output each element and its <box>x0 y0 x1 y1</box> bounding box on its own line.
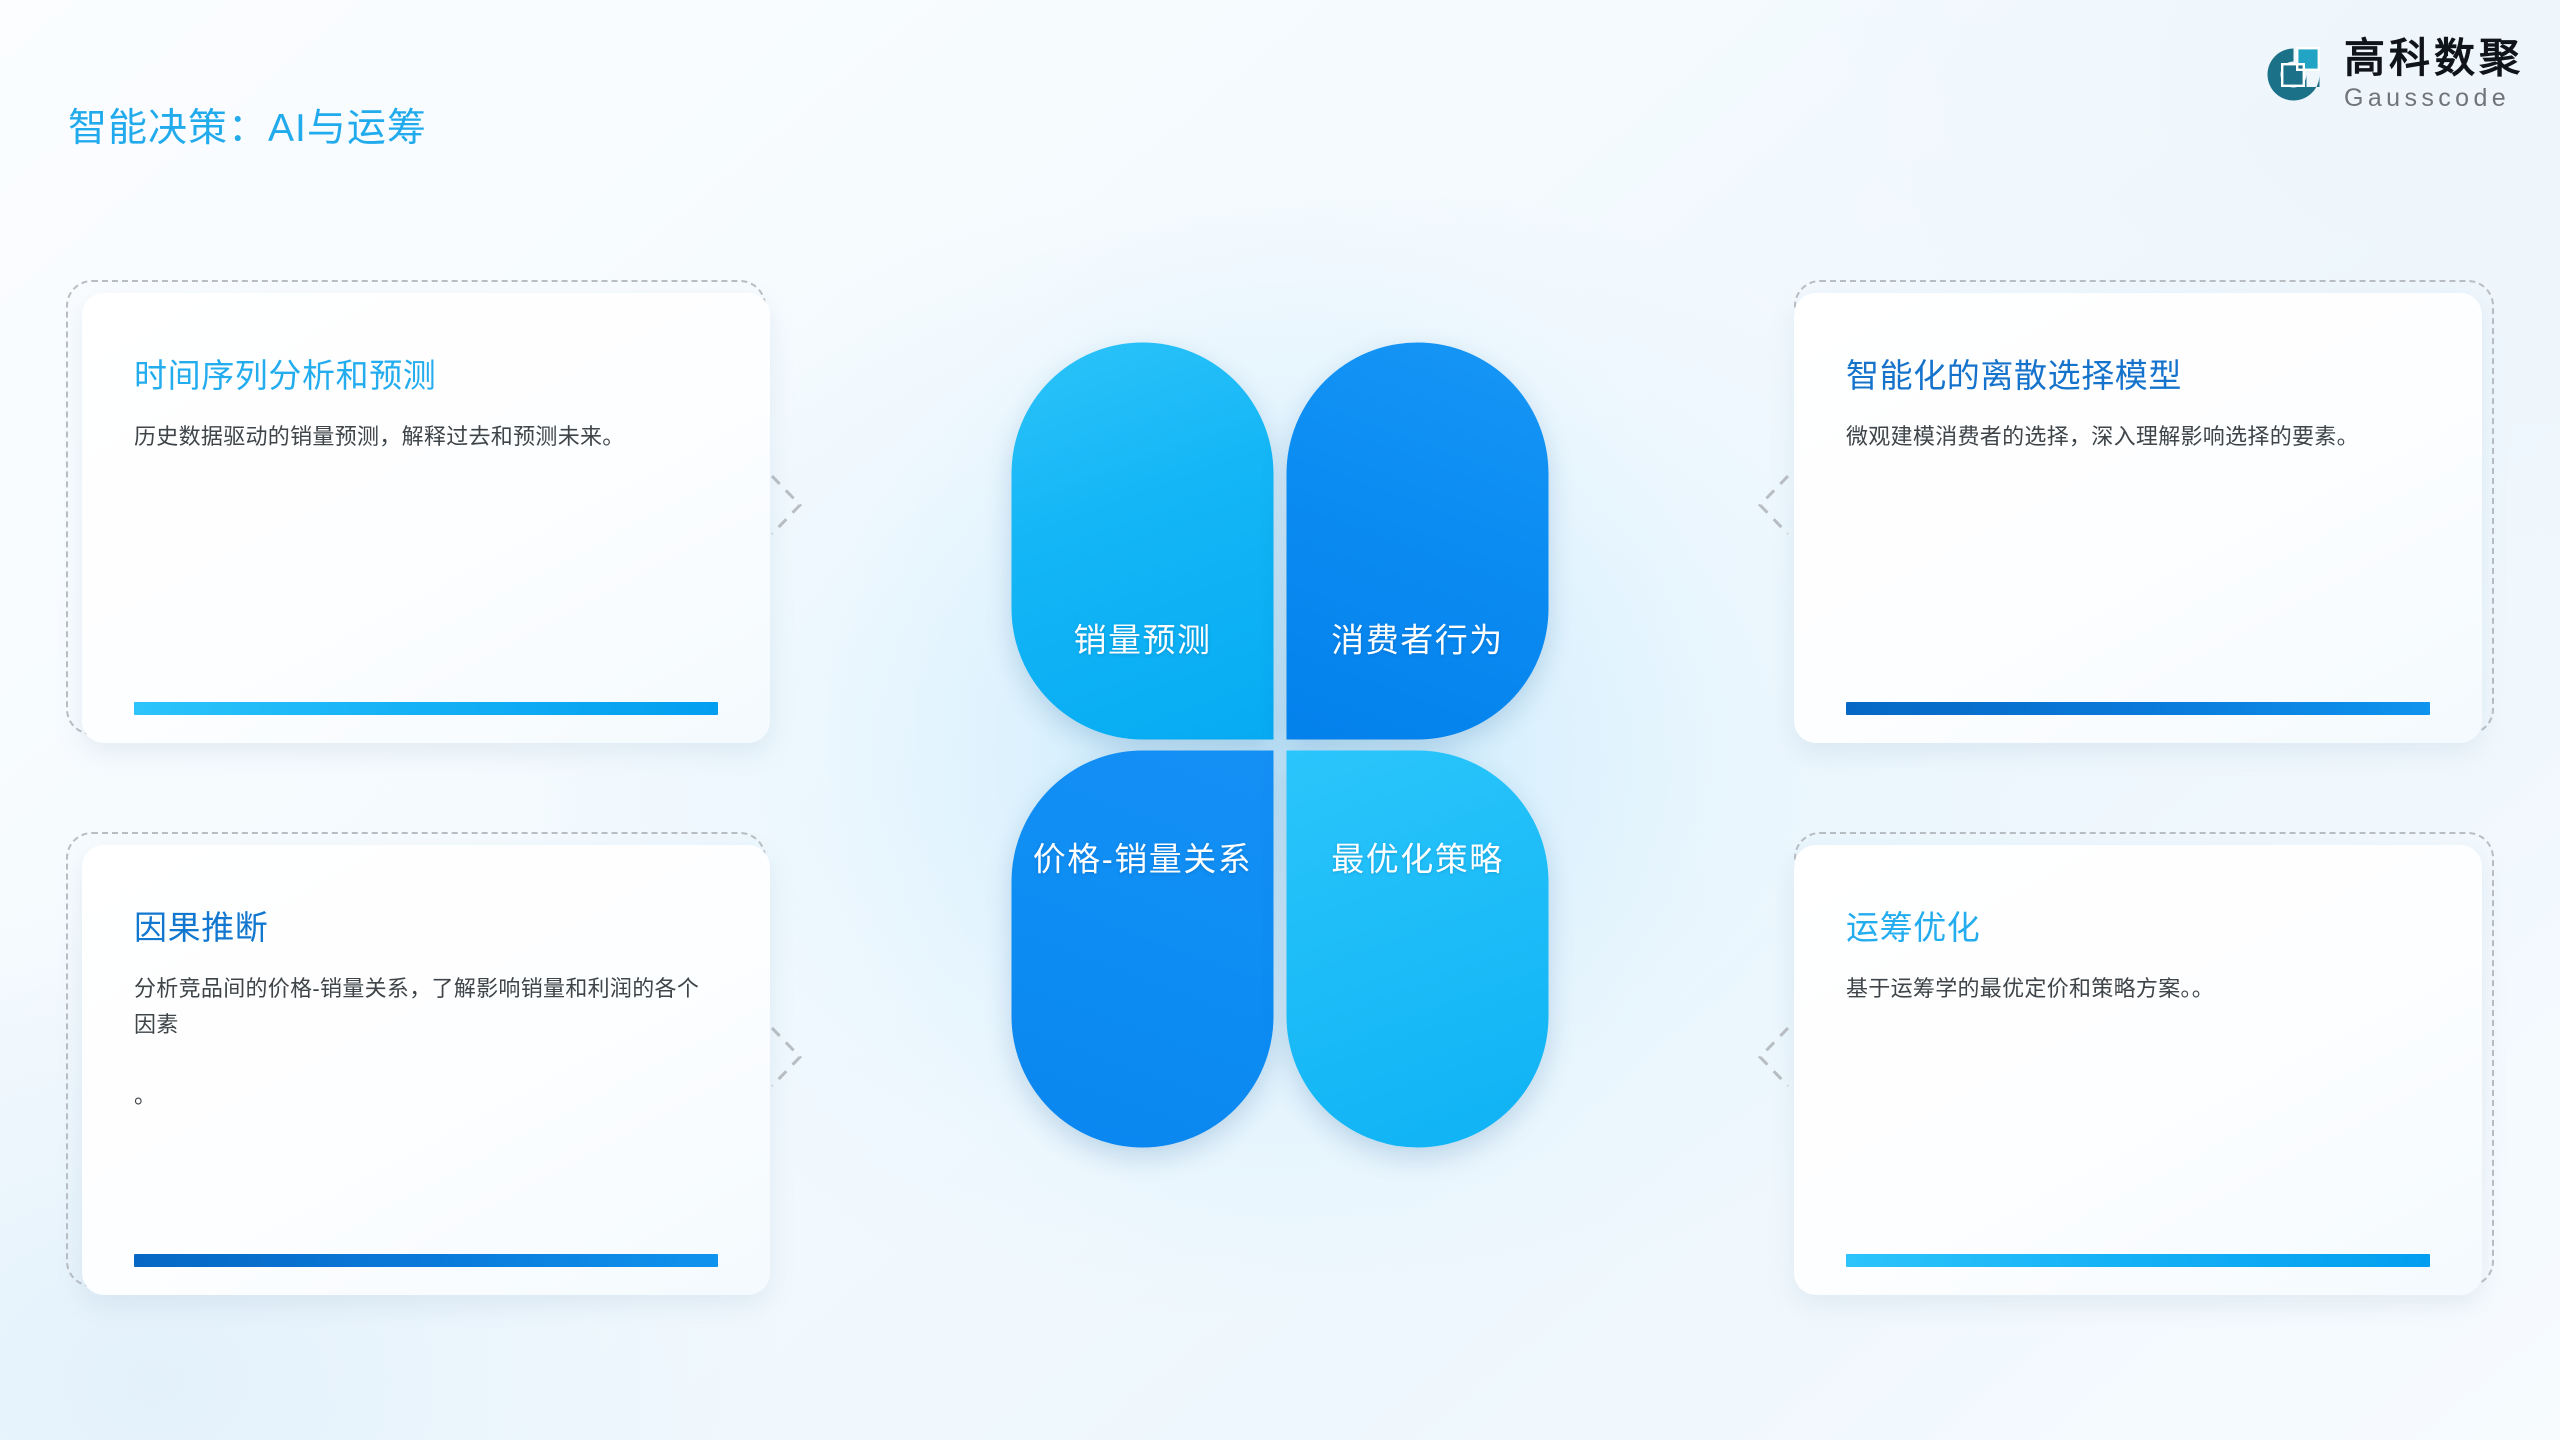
connector-arrow-bottom-right-icon <box>1744 1022 1790 1092</box>
four-petal-diagram: 销量预测 消费者行为 价格-销量关系 最优化策略 <box>1012 343 1549 1148</box>
brand-logo: 高科数聚 Gausscode <box>2262 38 2524 111</box>
card-body: 智能化的离散选择模型 微观建模消费者的选择，深入理解影响选择的要素。 <box>1794 293 2482 743</box>
card-title: 时间序列分析和预测 <box>134 349 718 397</box>
connector-arrow-bottom-left-icon <box>770 1022 816 1092</box>
petal-consumer-behavior[interactable]: 消费者行为 <box>1287 343 1549 740</box>
petal-sales-forecast[interactable]: 销量预测 <box>1012 343 1274 740</box>
card-time-series[interactable]: 时间序列分析和预测 历史数据驱动的销量预测，解释过去和预测未来。 <box>66 280 766 735</box>
card-operations-research[interactable]: 运筹优化 基于运筹学的最优定价和策略方案。。 <box>1794 832 2494 1287</box>
page-title: 智能决策：AI与运筹 <box>68 97 427 153</box>
gausscode-logo-icon <box>2262 43 2325 106</box>
card-description: 微观建模消费者的选择，深入理解影响选择的要素。 <box>1846 419 2430 455</box>
card-description: 历史数据驱动的销量预测，解释过去和预测未来。 <box>134 419 718 455</box>
connector-arrow-top-right-icon <box>1744 470 1790 540</box>
card-title: 智能化的离散选择模型 <box>1846 349 2430 397</box>
petal-optimal-strategy[interactable]: 最优化策略 <box>1287 751 1549 1148</box>
card-body: 运筹优化 基于运筹学的最优定价和策略方案。。 <box>1794 845 2482 1295</box>
card-accent-bar <box>1846 702 2430 715</box>
card-title: 运筹优化 <box>1846 901 2430 949</box>
connector-arrow-top-left-icon <box>770 470 816 540</box>
petal-label: 价格-销量关系 <box>1012 833 1274 881</box>
petal-label: 销量预测 <box>1012 614 1274 662</box>
card-title: 因果推断 <box>134 901 718 949</box>
petal-price-sales-relation[interactable]: 价格-销量关系 <box>1012 751 1274 1148</box>
card-description: 分析竞品间的价格-销量关系，了解影响销量和利润的各个因素 。 <box>134 971 718 1114</box>
card-causal-inference[interactable]: 因果推断 分析竞品间的价格-销量关系，了解影响销量和利润的各个因素 。 <box>66 832 766 1287</box>
logo-name-en: Gausscode <box>2344 86 2524 111</box>
card-accent-bar <box>1846 1254 2430 1267</box>
logo-name-cn: 高科数聚 <box>2344 38 2524 79</box>
card-discrete-choice[interactable]: 智能化的离散选择模型 微观建模消费者的选择，深入理解影响选择的要素。 <box>1794 280 2494 735</box>
card-accent-bar <box>134 702 718 715</box>
card-body: 因果推断 分析竞品间的价格-销量关系，了解影响销量和利润的各个因素 。 <box>82 845 770 1295</box>
petal-label: 最优化策略 <box>1287 833 1549 881</box>
card-description: 基于运筹学的最优定价和策略方案。。 <box>1846 971 2430 1007</box>
card-accent-bar <box>134 1254 718 1267</box>
petal-label: 消费者行为 <box>1287 614 1549 662</box>
card-body: 时间序列分析和预测 历史数据驱动的销量预测，解释过去和预测未来。 <box>82 293 770 743</box>
